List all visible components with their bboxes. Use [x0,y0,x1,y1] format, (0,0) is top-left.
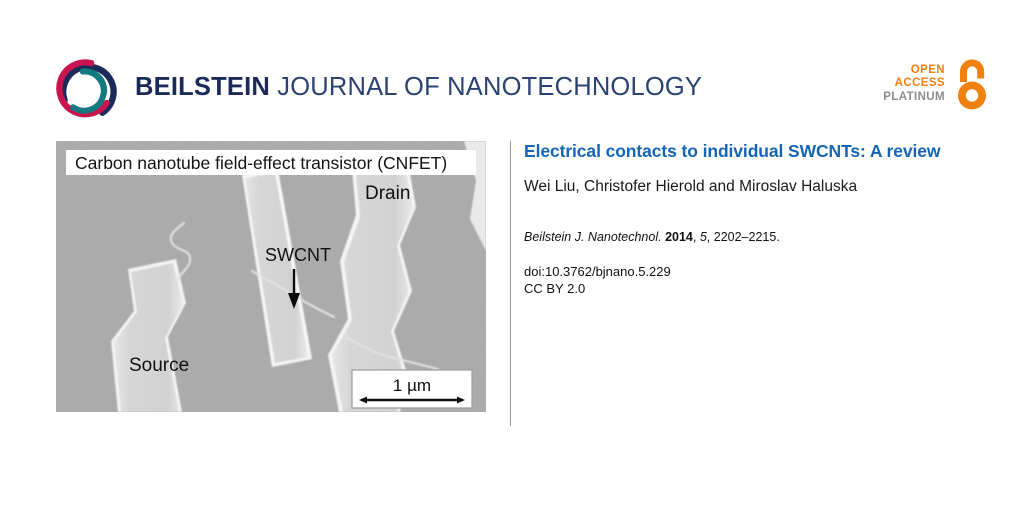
citation-sep-3: , [707,230,714,244]
open-access-line-access: ACCESS [883,77,945,91]
article-authors: Wei Liu, Christofer Hierold and Miroslav… [524,177,972,196]
page-header: BEILSTEIN JOURNAL OF NANOTECHNOLOGY OPEN… [0,0,1024,130]
article-title[interactable]: Electrical contacts to individual SWCNTs… [524,141,972,162]
sem-figure[interactable]: Carbon nanotube field-effect transistor … [56,141,486,412]
figure-label-source: Source [129,355,189,376]
open-padlock-icon [952,58,992,110]
open-access-text: OPEN ACCESS PLATINUM [883,64,945,105]
journal-logo-block[interactable]: BEILSTEIN JOURNAL OF NANOTECHNOLOGY [52,54,702,124]
beilstein-circular-logo-icon [52,54,122,124]
article-doi[interactable]: doi:10.3762/bjnano.5.229 [524,264,972,281]
citation-year: 2014 [665,230,693,244]
citation-sep-2: , [693,230,700,244]
figure-caption-text: Carbon nanotube field-effect transistor … [75,153,447,173]
open-access-line-open: OPEN [883,64,945,78]
citation-volume: 5 [700,230,707,244]
open-access-line-platinum: PLATINUM [883,91,945,105]
journal-wordmark: BEILSTEIN JOURNAL OF NANOTECHNOLOGY [135,75,702,103]
citation-journal: Beilstein J. Nanotechnol. [524,230,662,244]
figure-scale-bar-label: 1 µm [393,376,431,395]
column-divider [510,141,511,426]
article-license[interactable]: CC BY 2.0 [524,281,972,298]
article-citation: Beilstein J. Nanotechnol. 2014, 5, 2202–… [524,229,972,245]
wordmark-light: JOURNAL OF NANOTECHNOLOGY [270,73,702,101]
sem-micrograph: Carbon nanotube field-effect transistor … [56,141,486,412]
figure-scale-bar: 1 µm [352,370,472,408]
citation-pages: 2202–2215. [714,230,780,244]
wordmark-bold: BEILSTEIN [135,73,270,101]
figure-label-swcnt: SWCNT [265,245,331,265]
article-meta: Electrical contacts to individual SWCNTs… [524,141,972,297]
open-access-badge[interactable]: OPEN ACCESS PLATINUM [883,58,992,110]
figure-label-drain: Drain [365,183,410,204]
